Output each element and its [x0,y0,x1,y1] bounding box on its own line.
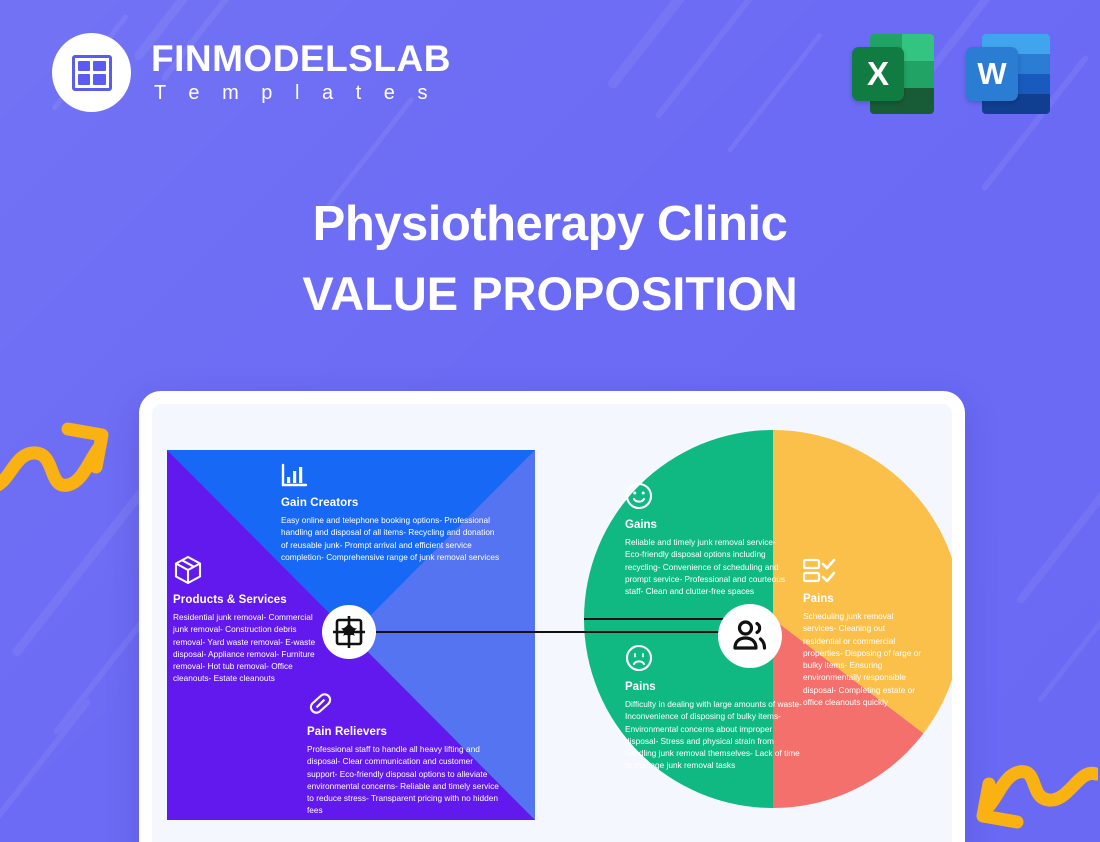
sad-face-icon [625,644,807,672]
page-title: Physiotherapy Clinic [0,196,1100,254]
squiggly-arrow-down-left-icon [963,748,1098,842]
block-body: Residential junk removal- Commercial jun… [173,611,325,685]
grid-squares-icon [72,55,112,91]
block-pain-relievers: Pain Relievers Professional staff to han… [307,690,502,817]
slice-body: Difficulty in dealing with large amounts… [625,698,807,772]
connector-arrow-line [355,631,745,633]
slice-gains: Gains Reliable and timely junk removal s… [625,482,793,597]
slice-pains: Pains Difficulty in dealing with large a… [625,644,807,772]
slice-pains-tasks: Pains Scheduling junk removal services- … [803,558,925,708]
excel-letter: X [852,47,904,101]
logo-wordmark: FINMODELSLAB T e m p l a t e s [151,40,451,105]
page-subtitle: VALUE PROPOSITION [0,266,1100,321]
word-letter: W [966,47,1018,101]
format-badges: X W [850,31,1052,117]
block-products-services: Products & Services Residential junk rem… [173,555,325,685]
excel-icon[interactable]: X [850,31,936,117]
bar-chart-icon [281,463,501,488]
slice-body: Scheduling junk removal services- Cleani… [803,610,925,708]
slice-title: Pains [625,681,807,693]
block-gain-creators: Gain Creators Easy online and telephone … [281,463,501,563]
slice-body: Reliable and timely junk removal service… [625,536,793,597]
pill-capsule-icon [307,690,502,717]
block-title: Gain Creators [281,497,501,509]
squiggly-arrow-up-right-icon [0,405,120,515]
logo-badge [52,33,131,112]
word-icon[interactable]: W [966,31,1052,117]
block-title: Products & Services [173,594,325,606]
checklist-icon [803,558,925,584]
slice-title: Pains [803,593,925,605]
brand-name: FINMODELSLAB [151,40,451,79]
block-body: Professional staff to handle all heavy l… [307,743,502,817]
box-package-icon [173,555,325,585]
page-title-group: Physiotherapy Clinic VALUE PROPOSITION [0,196,1100,321]
brand-subtitle: T e m p l a t e s [151,82,451,105]
customer-profile-icon[interactable] [718,604,782,668]
brand-logo[interactable]: FINMODELSLAB T e m p l a t e s [52,33,451,112]
slide-canvas: Gain Creators Easy online and telephone … [152,404,952,842]
slice-title: Gains [625,519,793,531]
block-title: Pain Relievers [307,726,502,738]
device-frame: Gain Creators Easy online and telephone … [139,391,965,842]
smiley-face-icon [625,482,793,510]
value-map-icon[interactable] [322,605,376,659]
